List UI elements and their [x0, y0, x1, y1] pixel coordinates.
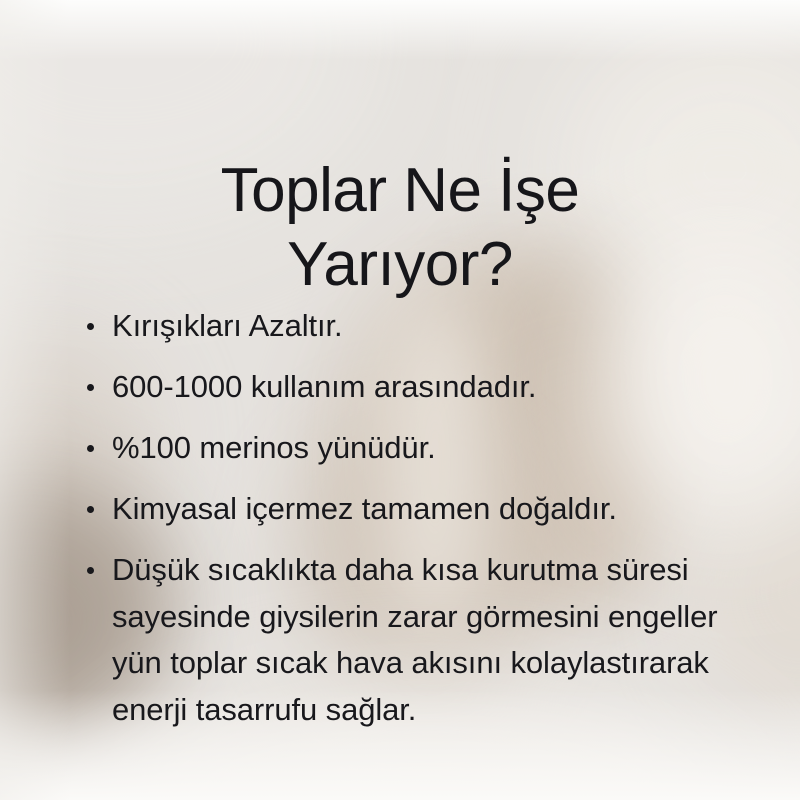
bullet-dot-icon [87, 445, 94, 452]
bullet-dot-icon [87, 506, 94, 513]
list-item-label: Düşük sıcaklıkta daha kısa kurutma süres… [112, 552, 717, 727]
list-item: Kırışıkları Azaltır. [84, 303, 724, 350]
title-line-1: Toplar Ne İşe [0, 154, 800, 228]
bullet-dot-icon [87, 384, 94, 391]
poster-canvas: Toplar Ne İşe Yarıyor? Kırışıkları Azalt… [0, 0, 800, 800]
list-item-label: Kırışıkları Azaltır. [112, 308, 343, 343]
list-item: 600-1000 kullanım arasındadır. [84, 364, 724, 411]
list-item: %100 merinos yünüdür. [84, 425, 724, 472]
benefits-list: Kırışıkları Azaltır. 600-1000 kullanım a… [84, 303, 724, 733]
page-title: Toplar Ne İşe Yarıyor? [0, 154, 800, 302]
list-item-label: Kimyasal içermez tamamen doğaldır. [112, 491, 617, 526]
bullet-dot-icon [87, 567, 94, 574]
poster-content: Toplar Ne İşe Yarıyor? Kırışıkları Azalt… [0, 0, 800, 800]
title-line-2: Yarıyor? [0, 228, 800, 302]
list-item-label: 600-1000 kullanım arasındadır. [112, 369, 536, 404]
list-item: Kimyasal içermez tamamen doğaldır. [84, 486, 724, 533]
list-item-label: %100 merinos yünüdür. [112, 430, 436, 465]
list-item: Düşük sıcaklıkta daha kısa kurutma süres… [84, 547, 724, 733]
bullet-dot-icon [87, 323, 94, 330]
